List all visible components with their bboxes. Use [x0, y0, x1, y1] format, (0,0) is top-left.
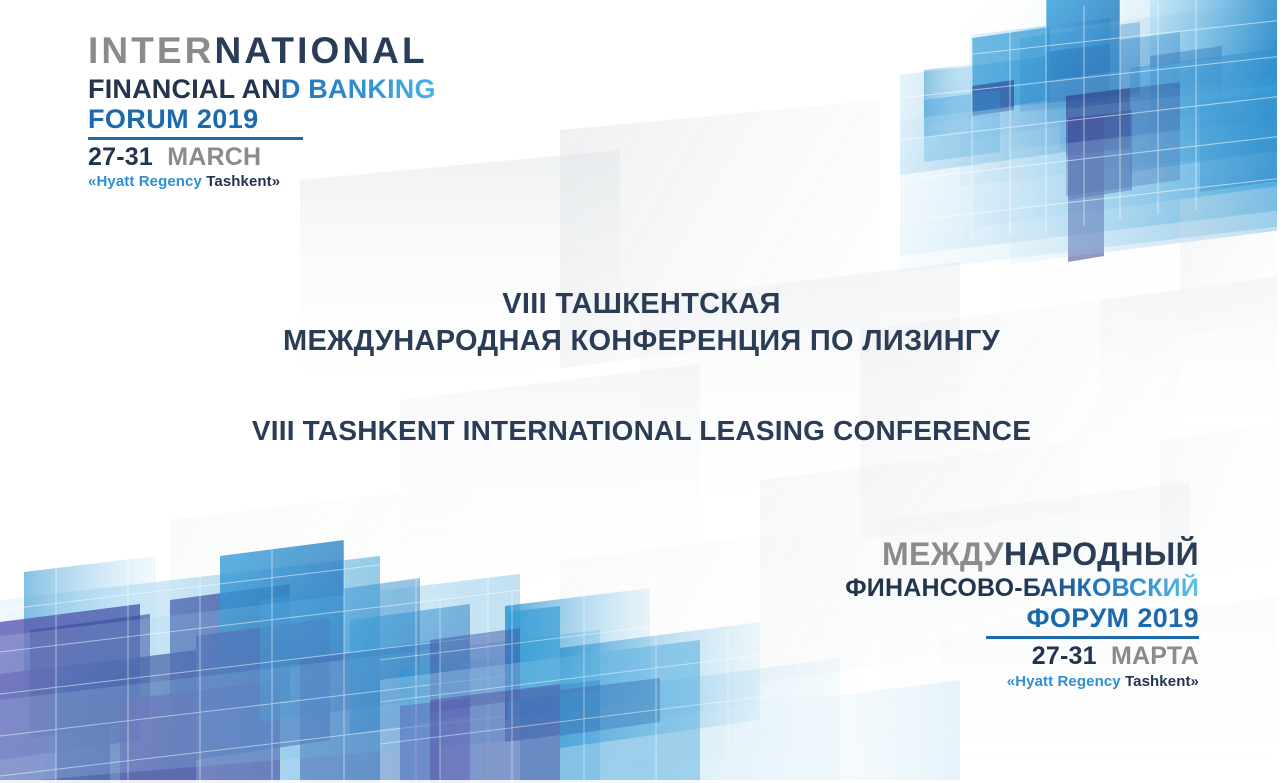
logo-ru-forum-year: ФОРУМ 2019	[845, 604, 1199, 633]
logo-ru-month-text: МАРТА	[1111, 642, 1199, 670]
logo-ru-line-mezhdunarodny: МЕЖДУНАРОДНЫЙ	[845, 538, 1199, 571]
logo-en-month-text: MARCH	[167, 143, 261, 171]
logo-ru-finansovo-text: ФИНАНСОВО-	[845, 574, 1023, 602]
logo-ru-dates-text: 27-31	[1032, 642, 1097, 670]
logo-ru-bankovskiy-text: БАНКОВСКИЙ	[1023, 574, 1199, 602]
logo-en-divider-rule	[88, 137, 303, 140]
logo-en-forum-year: FORUM 2019	[88, 105, 436, 134]
logo-en-inter-text: INTER	[88, 30, 215, 71]
logo-en-national-text: NATIONAL	[215, 30, 428, 71]
logo-ru-mezhdu-text: МЕЖДУ	[882, 536, 1004, 572]
logo-ru-divider-rule	[986, 636, 1199, 639]
top-right-geometry	[900, 0, 1283, 272]
bottom-left-geometry	[0, 524, 640, 783]
logo-ru-narodny-text: НАРОДНЫЙ	[1004, 536, 1199, 572]
title-english-line: VIII TASHKENT INTERNATIONAL LEASING CONF…	[0, 413, 1283, 449]
logo-ru-date-line: 27-31 МАРТА	[845, 643, 1199, 671]
logo-international-forum-ru: МЕЖДУНАРОДНЫЙ ФИНАНСОВО-БАНКОВСКИЙ ФОРУМ…	[845, 538, 1199, 691]
logo-en-venue-hyatt-text: «Hyatt Regency	[88, 173, 202, 190]
logo-en-venue-line: «Hyatt Regency Tashkent»	[88, 173, 436, 191]
logo-ru-line-finansovo-bankovskiy: ФИНАНСОВО-БАНКОВСКИЙ	[845, 575, 1199, 602]
title-russian-line-2: МЕЖДУНАРОДНАЯ КОНФЕРЕНЦИЯ ПО ЛИЗИНГУ	[0, 323, 1283, 360]
logo-en-financial-text: FINANCIAL AN	[88, 74, 281, 104]
logo-ru-venue-hyatt-text: «Hyatt Regency	[1007, 673, 1121, 690]
logo-en-venue-city-text: Tashkent»	[206, 173, 280, 190]
title-russian-line-1: VIII ТАШКЕНТСКАЯ	[0, 286, 1283, 323]
conference-banner: INTERNATIONAL FINANCIAL AND BANKING FORU…	[0, 0, 1283, 783]
logo-en-banking-text: D BANKING	[281, 74, 436, 104]
logo-ru-venue-line: «Hyatt Regency Tashkent»	[845, 673, 1199, 691]
logo-en-date-line: 27-31 MARCH	[88, 144, 436, 172]
logo-ru-venue-city-text: Tashkent»	[1125, 673, 1199, 690]
logo-en-dates-text: 27-31	[88, 143, 153, 171]
logo-international-forum-en: INTERNATIONAL FINANCIAL AND BANKING FORU…	[88, 32, 436, 191]
right-edge-faint-shapes	[940, 186, 1283, 783]
logo-en-line-financial-banking: FINANCIAL AND BANKING	[88, 75, 436, 104]
logo-en-line-international: INTERNATIONAL	[88, 32, 436, 70]
conference-title-block: VIII ТАШКЕНТСКАЯ МЕЖДУНАРОДНАЯ КОНФЕРЕНЦ…	[0, 286, 1283, 449]
